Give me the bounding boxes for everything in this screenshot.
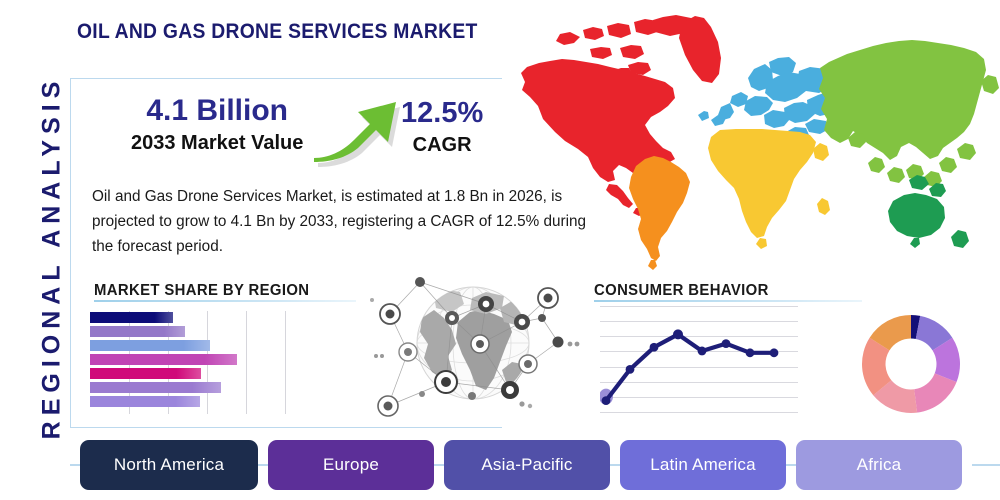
line-marker-8 xyxy=(770,348,779,357)
bar-row xyxy=(90,326,285,337)
bar-1 xyxy=(90,312,173,323)
kpi-cagr-number: 12.5% xyxy=(401,94,483,132)
region-tab-europe[interactable]: Europe xyxy=(268,440,434,490)
bar-row xyxy=(90,368,285,379)
tab-connector xyxy=(434,464,444,466)
kpi-market-value-number: 4.1 Billion xyxy=(131,92,303,130)
map-region-oceania xyxy=(888,175,969,248)
global-network-icon xyxy=(362,266,584,421)
line-marker-1 xyxy=(602,396,611,405)
infographic-root: REGIONAL ANALYSIS OIL AND GAS DRONE SERV… xyxy=(0,0,1000,500)
donut-chart xyxy=(858,311,964,417)
consumer-behavior-line-chart xyxy=(600,306,798,414)
bar-7 xyxy=(90,396,200,407)
line-marker-4 xyxy=(673,329,683,339)
bar-row xyxy=(90,354,285,365)
region-tab-africa[interactable]: Africa xyxy=(796,440,962,490)
region-tab-asia-pacific[interactable]: Asia-Pacific xyxy=(444,440,610,490)
kpi-cagr: 12.5% CAGR xyxy=(401,94,483,158)
bar-2 xyxy=(90,326,185,337)
bar-row xyxy=(90,312,285,323)
line-marker-6 xyxy=(722,339,731,348)
bar-6 xyxy=(90,382,221,393)
section-heading-consumer-behavior: CONSUMER BEHAVIOR xyxy=(594,282,769,300)
map-region-africa xyxy=(708,129,830,249)
kpi-market-value: 4.1 Billion 2033 Market Value xyxy=(131,92,303,156)
growth-arrow-icon xyxy=(314,90,406,168)
map-region-asia xyxy=(819,40,999,187)
bar-gridline xyxy=(285,311,286,414)
line-marker-7 xyxy=(746,348,755,357)
section-rule-market-share xyxy=(94,300,356,302)
bar-5 xyxy=(90,368,201,379)
section-heading-market-share: MARKET SHARE BY REGION xyxy=(94,282,309,300)
bar-row xyxy=(90,340,285,351)
tab-connector xyxy=(610,464,620,466)
kpi-market-value-label: 2033 Market Value xyxy=(131,130,303,156)
bar-4 xyxy=(90,354,237,365)
tab-connector xyxy=(786,464,796,466)
kpi-cagr-label: CAGR xyxy=(401,132,483,158)
kpi-row: 4.1 Billion 2033 Market Value 12.5% CAGR xyxy=(96,92,506,170)
tab-connector xyxy=(258,464,268,466)
bar-row xyxy=(90,396,285,407)
bar-3 xyxy=(90,340,210,351)
description-text: Oil and Gas Drone Services Market, is es… xyxy=(92,184,604,259)
region-tab-latin-america[interactable]: Latin America xyxy=(620,440,786,490)
side-label-regional-analysis: REGIONAL ANALYSIS xyxy=(38,58,67,458)
market-share-bar-chart xyxy=(90,311,285,412)
line-marker-2 xyxy=(626,365,635,374)
region-tabs: North AmericaEuropeAsia-PacificLatin Ame… xyxy=(80,440,980,490)
bar-row xyxy=(90,382,285,393)
line-marker-5 xyxy=(698,347,707,356)
section-rule-consumer-behavior xyxy=(594,300,862,302)
line-marker-3 xyxy=(650,343,659,352)
tab-connector-right xyxy=(972,464,1000,466)
region-tab-north-america[interactable]: North America xyxy=(80,440,258,490)
page-title: OIL AND GAS DRONE SERVICES MARKET xyxy=(77,20,478,44)
